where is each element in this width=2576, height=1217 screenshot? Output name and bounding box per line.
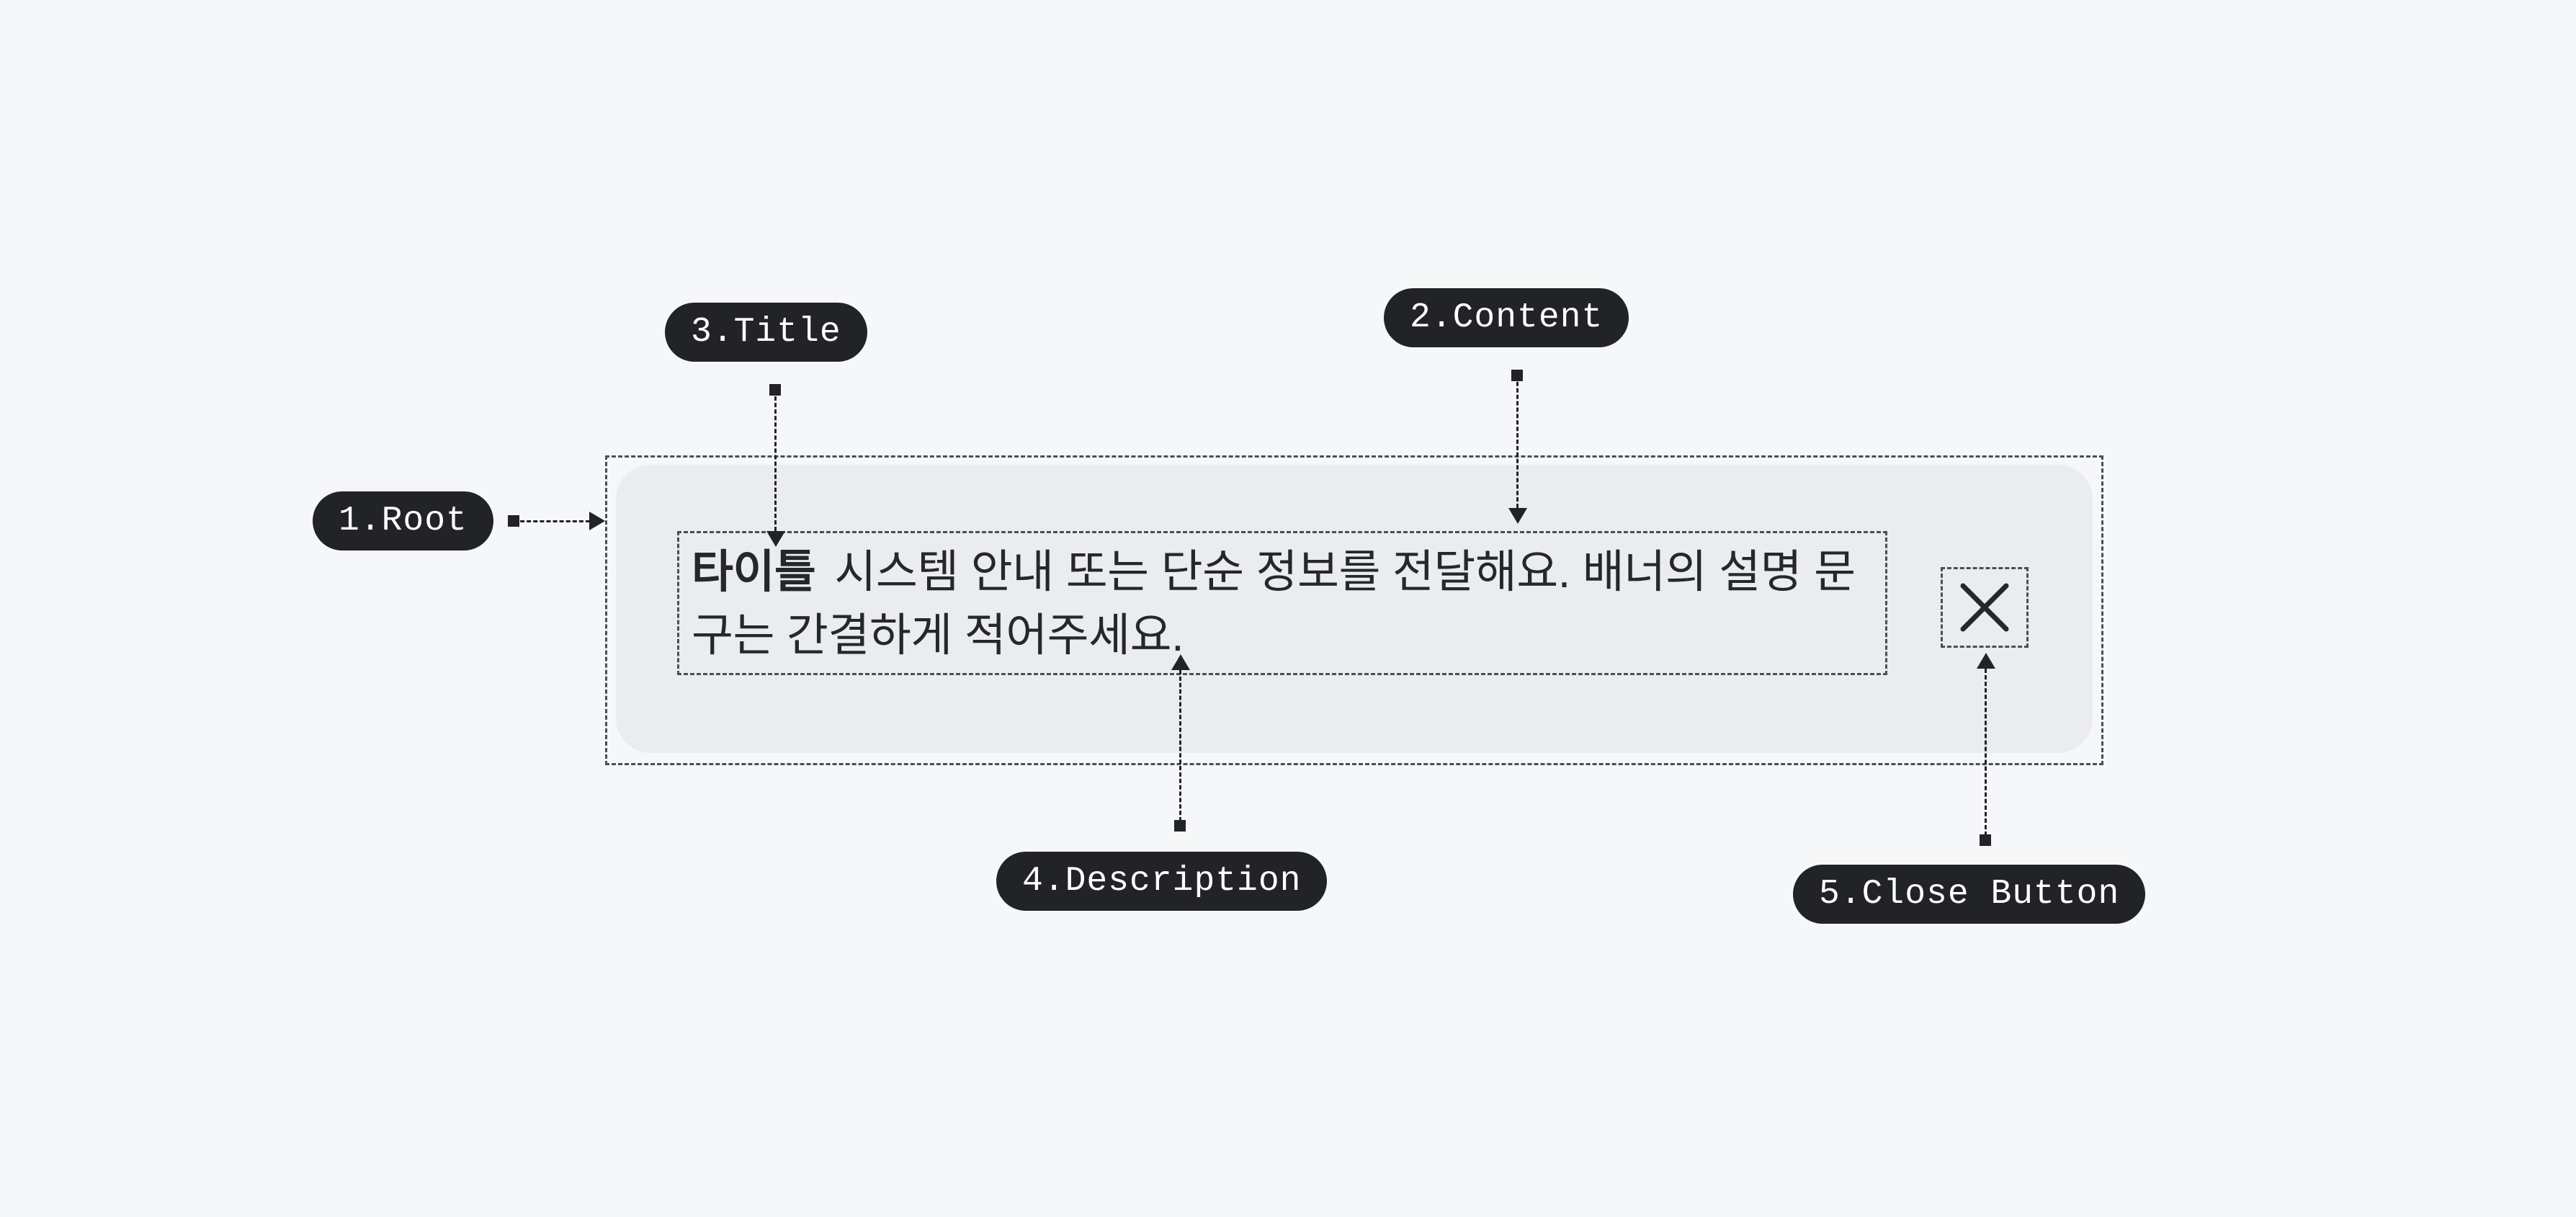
connector-arrow-close <box>1977 653 1995 669</box>
connector-line-close <box>1985 669 1987 836</box>
callout-badge-description-label: 4.Description <box>1022 862 1301 901</box>
annotation-canvas: 타이틀시스템 안내 또는 단순 정보를 전달해요. 배너의 설명 문구는 간결하… <box>0 0 2576 1217</box>
callout-badge-root[interactable]: 1.Root <box>313 491 493 550</box>
content-bounding-box <box>677 531 1887 675</box>
callout-badge-content-label: 2.Content <box>1410 298 1603 337</box>
callout-badge-close-label: 5.Close Button <box>1819 875 2119 914</box>
callout-badge-description[interactable]: 4.Description <box>996 852 1327 911</box>
connector-arrow-description <box>1171 654 1190 670</box>
close-bounding-box <box>1941 567 2029 648</box>
connector-arrow-root <box>589 512 605 530</box>
connector-dot-close <box>1980 834 1991 846</box>
connector-dot-description <box>1174 820 1186 832</box>
connector-line-content <box>1516 375 1519 508</box>
connector-arrow-title <box>766 531 785 547</box>
callout-badge-close[interactable]: 5.Close Button <box>1793 865 2145 924</box>
connector-line-title <box>774 390 777 531</box>
connector-line-description <box>1179 670 1181 821</box>
connector-arrow-content <box>1508 508 1527 524</box>
callout-badge-content[interactable]: 2.Content <box>1384 288 1629 347</box>
connector-line-root <box>514 520 590 522</box>
callout-badge-title[interactable]: 3.Title <box>665 303 867 362</box>
callout-badge-root-label: 1.Root <box>339 501 468 540</box>
callout-badge-title-label: 3.Title <box>691 313 841 352</box>
